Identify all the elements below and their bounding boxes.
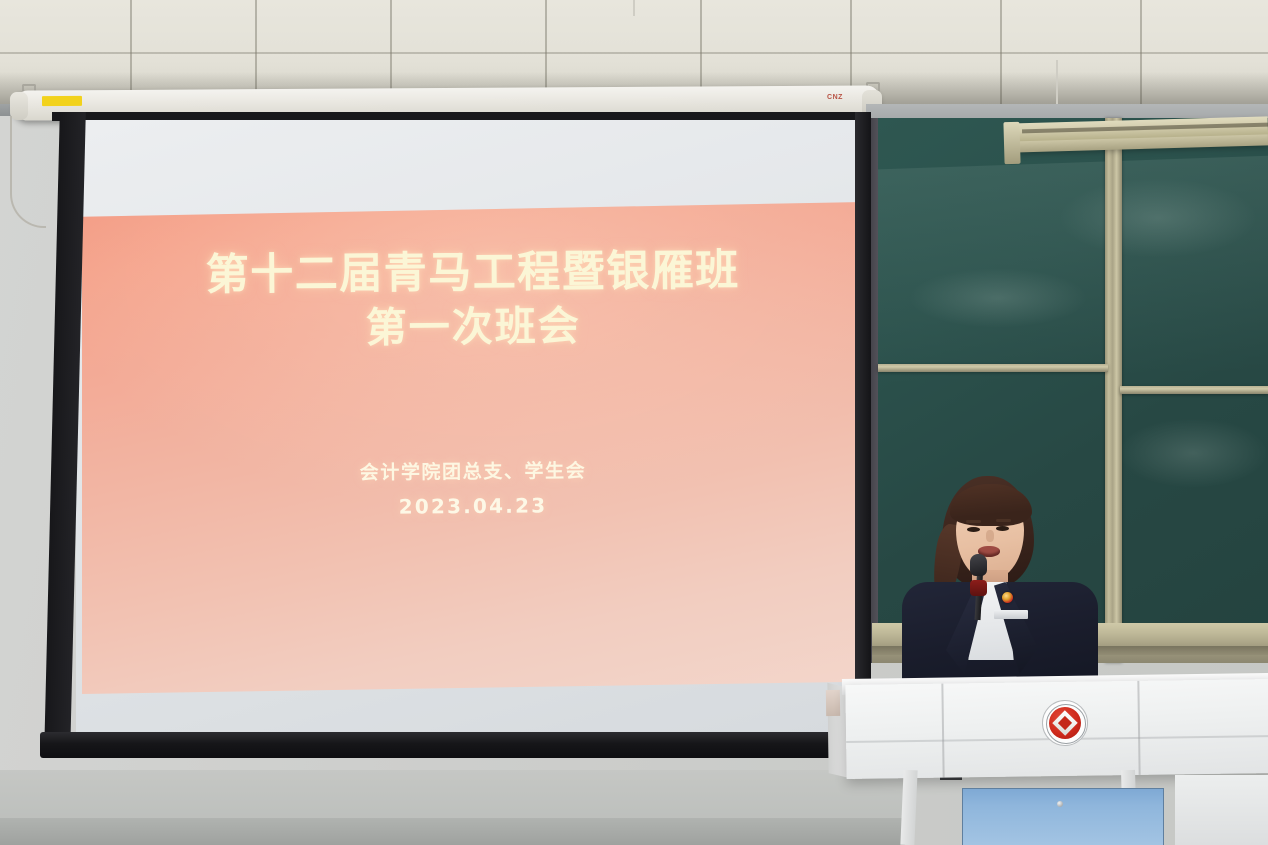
projected-slide: 第十二届青马工程暨银雁班 第一次班会 会计学院团总支、学生会 2023.04.2…: [82, 202, 864, 694]
ceiling-hanger-wire: [633, 0, 635, 16]
slide-title-line2: 第一次班会: [82, 298, 864, 357]
microphone-windscreen: [970, 580, 987, 596]
blackboard-divider-horizontal: [1120, 386, 1268, 394]
screen-housing-sticker: [42, 96, 82, 106]
eye-right: [996, 526, 1009, 531]
power-cable: [10, 116, 46, 228]
equipment-cabinet-panel: [962, 788, 1164, 845]
microphone-head: [970, 554, 987, 576]
eye-left: [967, 527, 980, 532]
wall-cabinet-right: [1175, 775, 1268, 845]
projection-screen: 第十二届青马工程暨银雁班 第一次班会 会计学院团总支、学生会 2023.04.2…: [52, 112, 867, 752]
hair-fringe: [950, 484, 1032, 526]
slide-title-line1: 第十二届青马工程暨银雁班: [206, 246, 740, 301]
cabinet-screw-icon: [1057, 801, 1063, 807]
screen-bottom-weight-bar: [40, 732, 880, 758]
screen-surface: 第十二届青马工程暨银雁班 第一次班会 会计学院团总支、学生会 2023.04.2…: [76, 120, 864, 736]
nose: [986, 530, 994, 542]
blackboard-divider-horizontal: [878, 364, 1108, 372]
slide-title: 第十二届青马工程暨银雁班 第一次班会: [82, 243, 864, 357]
hanging-rail-end-cap: [1003, 122, 1020, 164]
slide-date: 2023.04.23: [82, 491, 864, 522]
slide-organization: 会计学院团总支、学生会: [82, 454, 864, 488]
speaker-person: [890, 470, 1120, 700]
lapel-badge-icon: [1002, 592, 1013, 603]
screen-brand-label: CNZ: [820, 92, 850, 103]
screen-border-right: [855, 112, 871, 752]
classroom-photo-scene: CNZ 第十二届青马工程暨银雁班: [0, 0, 1268, 845]
podium-side-tab: [826, 690, 840, 716]
eyebrow-right: [996, 519, 1011, 522]
baseboard: [0, 818, 905, 845]
eyebrow-left: [966, 520, 981, 523]
name-tag: [994, 610, 1028, 619]
